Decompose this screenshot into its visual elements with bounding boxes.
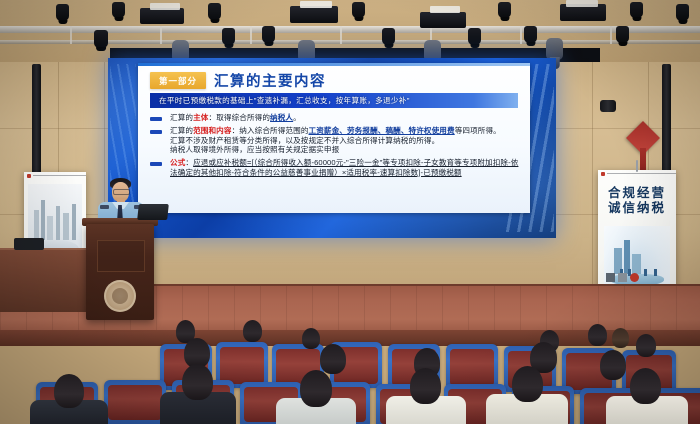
banner-header (24, 172, 86, 179)
wall-speaker (600, 100, 616, 112)
slide-highlight-text: 在平时已预缴税款的基础上"查遗补漏，汇总收支，按年算账，多退少补" (150, 95, 410, 106)
par-can-light (524, 26, 537, 43)
truss-brace (520, 26, 522, 44)
bullet-marker-icon (150, 117, 162, 121)
slide-part-tag: 第一部分 (150, 72, 206, 89)
bullet-subtext: 汇算不涉及财产租赁等分类所得，以及按规定不并入综合所得计算纳税的所得。 (170, 136, 501, 146)
audience-head (54, 374, 84, 408)
banner-header-rule (607, 173, 676, 175)
truss-brace (610, 26, 612, 44)
audience-head (630, 368, 661, 404)
banner-header-rule (33, 175, 86, 177)
par-can-light (616, 26, 629, 43)
bullet-subtext: 纳税人取得境外所得，应当按照有关规定据实申报 (170, 145, 501, 155)
slide-title-row: 第一部分 汇算的主要内容 (150, 70, 326, 91)
podium-panel (97, 240, 145, 272)
podium-emblem-icon (104, 280, 136, 312)
slide-bullet-item: 汇算的主体：取得综合所得的纳税人。 (150, 113, 522, 123)
par-can-light (222, 28, 235, 45)
slide-highlight-bar: 在平时已预缴税款的基础上"查遗补漏，汇总收支，按年算账，多退少补" (150, 93, 518, 108)
qr-code-icon (618, 273, 627, 282)
audience-head (636, 334, 656, 357)
stage-light (290, 6, 338, 23)
audience-head (410, 368, 441, 404)
audience-head (612, 328, 629, 348)
banner-right-title-line2: 诚信纳税 (598, 201, 676, 216)
auditorium-seat (104, 380, 166, 424)
truss-brace (70, 26, 72, 44)
banner-right-title-line1: 合规经营 (598, 186, 676, 201)
lecture-hall-photo: 第一部分 汇算的主要内容 在平时已预缴税款的基础上"查遗补漏，汇总收支，按年算账… (0, 0, 700, 424)
audience-head (320, 344, 346, 374)
slide-title: 汇算的主要内容 (214, 70, 326, 91)
slide-bullet-list: 汇算的主体：取得综合所得的纳税人。 汇算的范围和内容：纳入综合所得范围的工资薪金… (150, 113, 522, 181)
slide-accent-bar (138, 63, 530, 66)
audience-head (588, 324, 607, 346)
qr-code-icon (606, 273, 615, 282)
slide-bullet-item: 汇算的范围和内容：纳入综合所得范围的工资薪金、劳务报酬、稿酬、特许权使用费等四项… (150, 126, 522, 155)
banner-logo-icon (27, 174, 31, 178)
par-can-light (56, 4, 69, 21)
audience-head (600, 350, 626, 380)
par-can-light (676, 4, 689, 21)
logo-badge-icon (630, 273, 639, 282)
audience-head (300, 370, 332, 407)
par-can-light (262, 26, 275, 43)
bullet-text: 公式：应退或应补税额=[（综合所得收入额-60000元-"三险一金"等专项扣除-… (170, 158, 522, 177)
par-can-light (382, 28, 395, 45)
stage-light (140, 8, 184, 24)
bullet-text: 汇算的主体：取得综合所得的纳税人。 (170, 113, 301, 123)
par-can-light (498, 2, 511, 18)
banner-logo-icon (601, 172, 605, 176)
par-can-light (94, 30, 108, 48)
stage-light-reflector (430, 6, 460, 13)
moving-head-light (546, 38, 563, 60)
banner-right-pole (636, 160, 638, 172)
wall-speaker (662, 64, 671, 182)
laptop (137, 204, 169, 220)
stage-light-reflector (566, 0, 598, 7)
table-equipment (14, 238, 44, 250)
presentation-slide: 第一部分 汇算的主要内容 在平时已预缴税款的基础上"查遗补漏，汇总收支，按年算账… (138, 63, 530, 213)
par-can-light (352, 2, 365, 18)
banner-right-title: 合规经营 诚信纳税 (598, 186, 676, 216)
bullet-marker-icon (150, 130, 162, 134)
chinese-knot-tassel-icon (640, 148, 646, 172)
truss-brace (340, 26, 342, 44)
audience-head (243, 320, 262, 342)
podium (86, 224, 154, 320)
bullet-text: 汇算的范围和内容：纳入综合所得范围的工资薪金、劳务报酬、稿酬、特许权使用费等四项… (170, 126, 501, 155)
par-can-light (112, 2, 125, 18)
stage-light-reflector (300, 1, 332, 8)
audience-head (182, 364, 213, 400)
audience-head (512, 366, 543, 402)
par-can-light (630, 2, 643, 18)
stage-light (420, 12, 466, 28)
bullet-marker-icon (150, 162, 162, 166)
truss-brace (160, 26, 162, 44)
glasses-icon (113, 189, 130, 195)
par-can-light (208, 3, 221, 20)
banner-right: 合规经营 诚信纳税 国家税务总局税收宣传 依法诚信纳税共建和谐社会 (598, 170, 676, 302)
speaker-epaulette (100, 205, 109, 209)
par-can-light (468, 28, 481, 45)
slide-bullet-item: 公式：应退或应补税额=[（综合所得收入额-60000元-"三险一金"等专项扣除-… (150, 158, 522, 177)
stage-light-reflector (150, 3, 180, 10)
audience-head (302, 328, 320, 349)
truss-brace (250, 26, 252, 44)
wall-speaker (32, 64, 41, 184)
banner-qr-row (606, 273, 639, 282)
